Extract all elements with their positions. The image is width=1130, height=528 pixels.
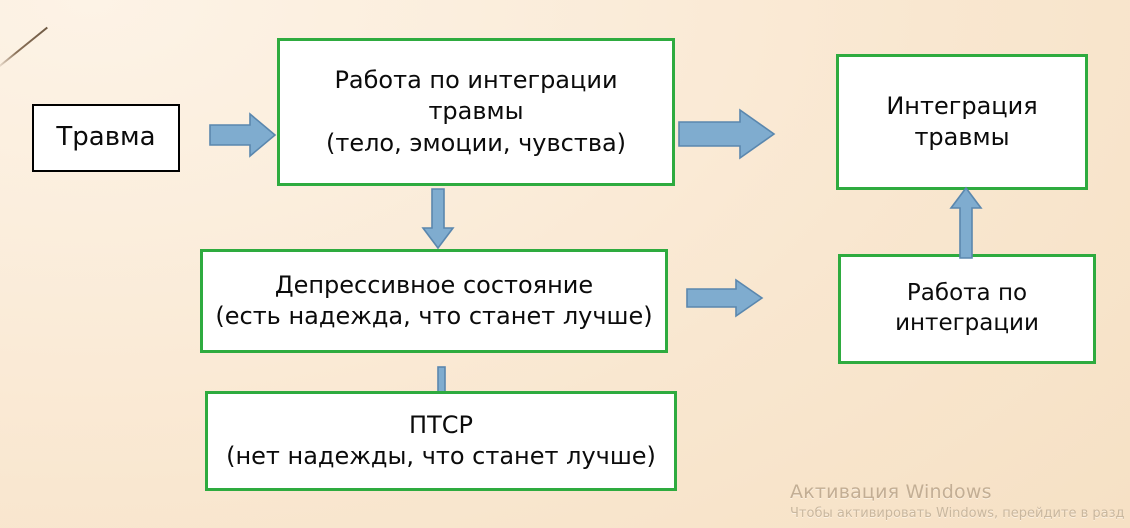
box-depression-state: Депрессивное состояние (есть надежда, чт…	[200, 249, 668, 353]
windows-activation-watermark: Активация Windows Чтобы активировать Win…	[790, 482, 1130, 521]
box-work-integration-lower: Работа по интеграции	[838, 254, 1096, 364]
box-work-integration-2-line-2: интеграции	[847, 309, 1087, 339]
arrow-work-to-depression-down-icon	[421, 188, 455, 250]
box-work-integration-trauma: Работа по интеграции травмы (тело, эмоци…	[277, 38, 675, 186]
box-integration-trauma-result: Интеграция травмы	[836, 54, 1088, 190]
box-ptsr-line-1: ПТСР	[214, 410, 668, 441]
box-trauma-line-1: Травма	[40, 121, 172, 155]
arrow-work-to-integration-right-icon	[678, 108, 776, 160]
arrow-depression-to-ptsr-down-icon	[434, 366, 448, 394]
box-integration-result-line-1: Интеграция	[845, 91, 1079, 122]
box-depression-line-2: (есть надежда, что станет лучше)	[209, 301, 659, 332]
box-integration-result-line-2: травмы	[845, 122, 1079, 153]
box-work-integration-2-line-1: Работа по	[847, 279, 1087, 309]
slide-canvas: Травма Работа по интеграции травмы (тело…	[0, 0, 1130, 528]
watermark-title: Активация Windows	[790, 482, 1130, 503]
box-work-integration-line-3: (тело, эмоции, чувства)	[286, 128, 666, 159]
arrow-depression-to-work2-right-icon	[686, 278, 764, 320]
box-work-integration-line-2: травмы	[286, 96, 666, 127]
watermark-subtitle: Чтобы активировать Windows, перейдите в …	[790, 506, 1130, 522]
arrow-trauma-to-work-right-icon	[209, 112, 277, 158]
arrow-work2-to-integration-up-icon	[948, 186, 984, 260]
decorative-diagonal-line	[0, 27, 48, 70]
box-work-integration-line-1: Работа по интеграции	[286, 65, 666, 96]
box-ptsr-line-2: (нет надежды, что станет лучше)	[214, 441, 668, 472]
box-depression-line-1: Депрессивное состояние	[209, 270, 659, 301]
box-ptsr: ПТСР (нет надежды, что станет лучше)	[205, 391, 677, 491]
box-trauma: Травма	[32, 104, 180, 172]
